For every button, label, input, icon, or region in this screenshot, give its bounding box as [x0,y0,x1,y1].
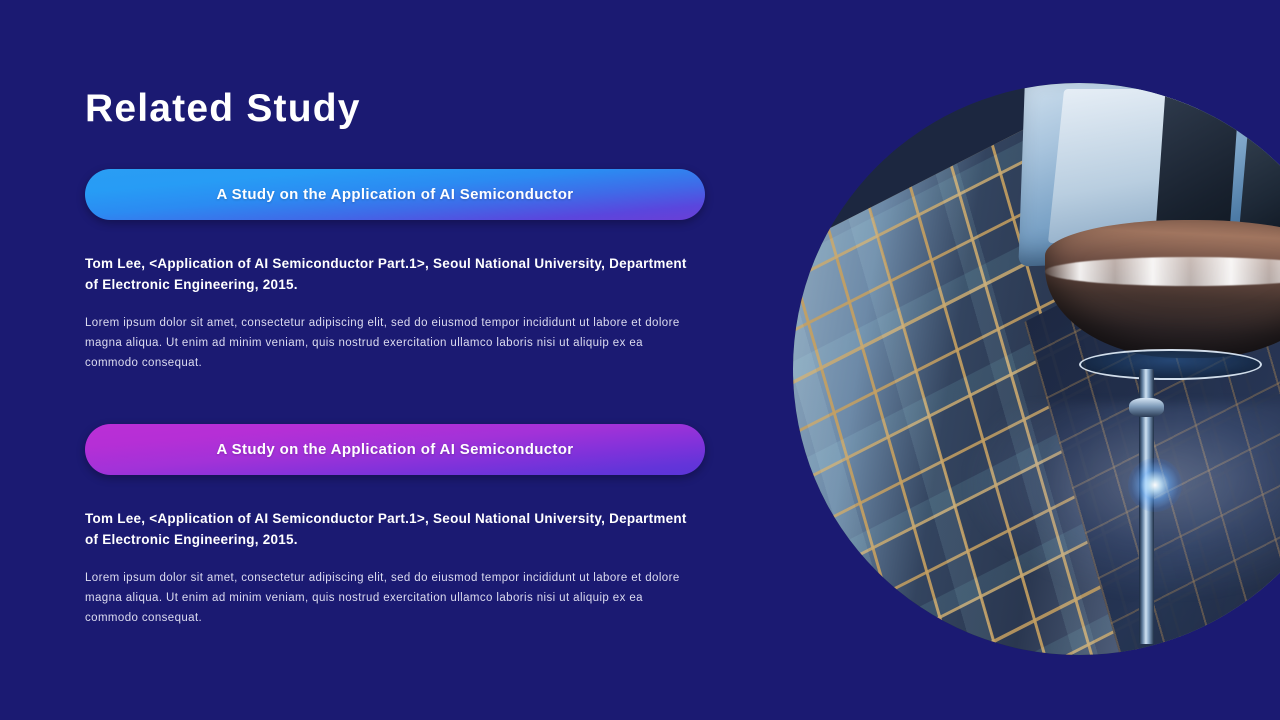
page-title: Related Study [85,88,710,131]
semiconductor-wafer-probe-photo [793,83,1280,655]
study-body-2: Lorem ipsum dolor sit amet, consectetur … [85,568,685,628]
study-banner-2[interactable]: A Study on the Application of AI Semicon… [85,424,705,475]
content-column: Related Study A Study on the Application… [85,88,710,628]
study-citation-2: Tom Lee, <Application of AI Semiconducto… [85,509,700,551]
probe-collar [1129,398,1163,417]
study-block-2: A Study on the Application of AI Semicon… [85,424,710,628]
study-banner-label-2: A Study on the Application of AI Semicon… [217,441,574,458]
study-citation-1: Tom Lee, <Application of AI Semiconducto… [85,254,700,296]
study-banner-label-1: A Study on the Application of AI Semicon… [217,186,574,203]
photo-inner [793,83,1280,655]
wafer-glow [965,403,1280,597]
study-body-1: Lorem ipsum dolor sit amet, consectetur … [85,313,685,373]
study-banner-1[interactable]: A Study on the Application of AI Semicon… [85,169,705,220]
probe-spark-glow [1128,458,1182,512]
slide-root: Related Study A Study on the Application… [0,0,1280,720]
study-block-1: A Study on the Application of AI Semicon… [85,169,710,373]
